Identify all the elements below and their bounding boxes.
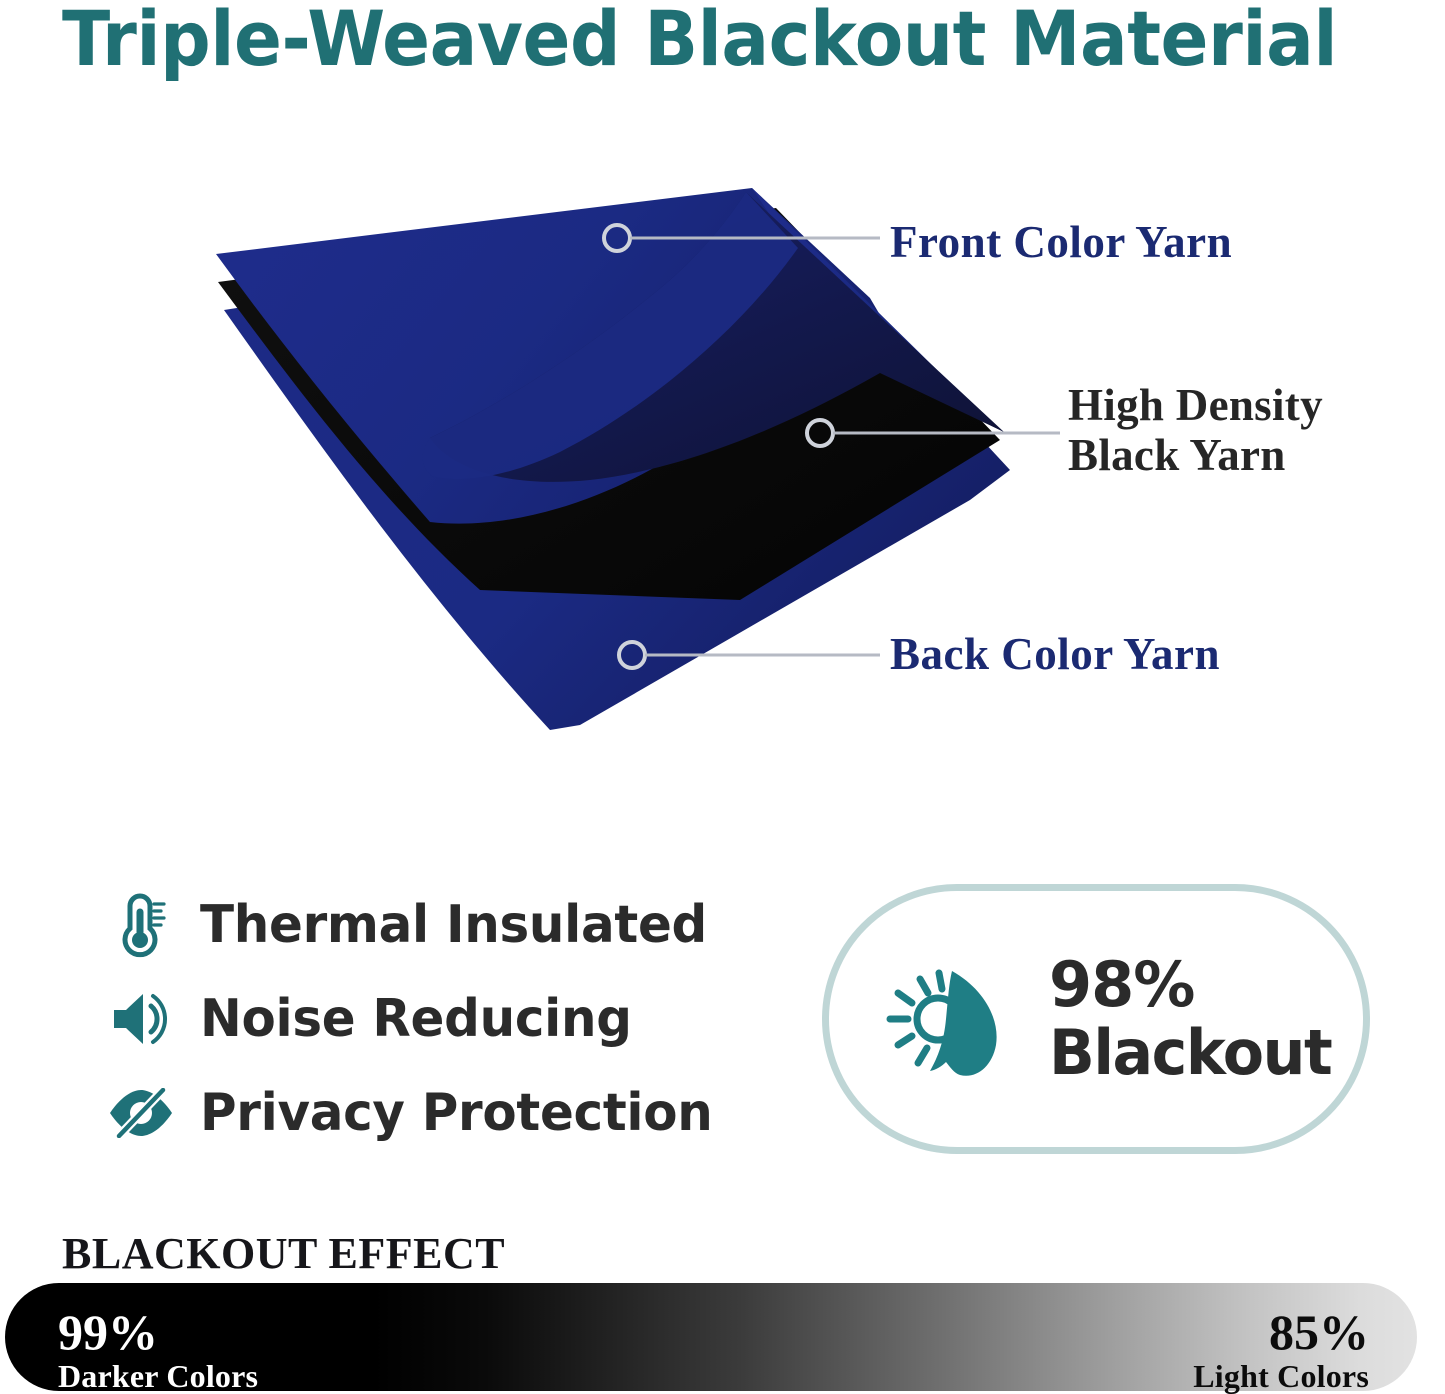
light-colors-percent: 85%: [1193, 1306, 1369, 1358]
blackout-stat-light-colors: 85% Light Colors: [1193, 1306, 1369, 1394]
feature-item-privacy-protection: Privacy Protection: [104, 1066, 744, 1160]
badge-word: Blackout: [1049, 1022, 1331, 1084]
feature-item-thermal-insulated: Thermal Insulated: [104, 878, 744, 972]
feature-list: Thermal Insulated Noise Reducing Privacy…: [104, 878, 744, 1160]
badge-text: 98% Blackout: [1049, 954, 1340, 1084]
eye-slash-icon: [104, 1076, 178, 1150]
callout-label-high-density-black-yarn: High Density Black Yarn: [1068, 380, 1323, 480]
thermometer-icon: [104, 888, 178, 962]
feature-item-noise-reducing: Noise Reducing: [104, 972, 744, 1066]
callout-label-line-1: High Density: [1068, 380, 1323, 430]
callout-label-line-2: Black Yarn: [1068, 430, 1323, 480]
speaker-sound-icon: [104, 982, 178, 1056]
feature-label-thermal-insulated: Thermal Insulated: [200, 895, 707, 955]
page-title: Triple-Weaved Blackout Material: [62, 0, 1308, 82]
callout-label-front-color-yarn: Front Color Yarn: [890, 216, 1232, 268]
blackout-stat-darker-colors: 99% Darker Colors: [58, 1306, 258, 1394]
badge-percent: 98%: [1049, 954, 1340, 1016]
darker-colors-percent: 99%: [58, 1306, 258, 1358]
feature-label-noise-reducing: Noise Reducing: [200, 989, 632, 1049]
feature-label-privacy-protection: Privacy Protection: [200, 1083, 713, 1143]
blackout-effect-heading: BLACKOUT EFFECT: [62, 1228, 505, 1279]
darker-colors-label: Darker Colors: [58, 1358, 258, 1394]
blackout-badge: 98% Blackout: [822, 884, 1370, 1154]
light-colors-label: Light Colors: [1193, 1358, 1369, 1394]
sun-blocked-icon: [871, 944, 1021, 1094]
callout-label-back-color-yarn: Back Color Yarn: [890, 628, 1220, 680]
